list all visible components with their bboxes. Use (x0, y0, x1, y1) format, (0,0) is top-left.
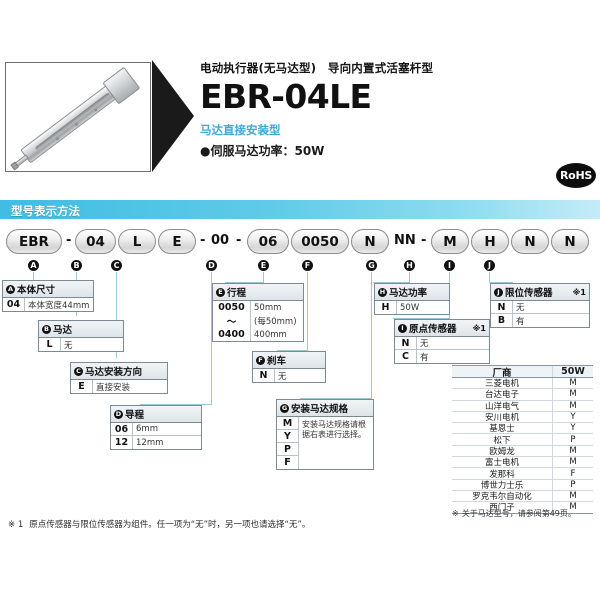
marker-j: J (484, 260, 495, 271)
table-f-title: 刹车 (267, 353, 286, 367)
cell-code: N (253, 369, 275, 382)
cell-code: F (277, 456, 298, 469)
table-row: F (277, 456, 298, 469)
code-pill-0050[interactable]: 0050 (291, 229, 349, 254)
decorative-wedge (152, 60, 194, 172)
cell-desc: 本体宽度44mm (25, 298, 92, 311)
table-row: 欧姆龙M (452, 446, 593, 457)
actuator-illustration (20, 70, 136, 163)
cell-code: P (277, 443, 298, 455)
table-f-header: F 刹车 (253, 352, 325, 369)
cell-desc: 6mm (133, 423, 161, 435)
table-b-motor: B 马达 L 无 (38, 320, 124, 352)
cell-code: C (395, 350, 417, 363)
table-i-title: 原点传感器 (409, 321, 457, 335)
table-row: N 无 (395, 337, 489, 350)
table-row: M (277, 417, 298, 430)
cell-desc: 有 (513, 314, 528, 327)
cell-code: N (395, 337, 417, 349)
table-h-motor-power: H 马达功率 H 50W (374, 283, 450, 315)
table-row: N 无 (491, 301, 589, 314)
page-title: EBR-04LE (200, 79, 540, 115)
cell-code: E (71, 380, 93, 393)
table-i-header: I 原点传感器 ※1 (395, 320, 489, 337)
cell-code: M (553, 446, 593, 456)
marker-i: I (444, 260, 455, 271)
manufacturer-table-header: 厂商 50W (452, 365, 593, 378)
table-d-lead: D 导程 06 6mm 12 12mm (110, 405, 202, 450)
cell-code: 12 (111, 436, 133, 449)
table-row: 山洋电气M (452, 401, 593, 412)
footnote-1: ※ 1原点传感器与限位传感器为组件。任一项为“无”时，另一项也请选择“无”。 (8, 518, 310, 530)
connector-e (263, 272, 264, 282)
table-row: 三菱电机M (452, 378, 593, 389)
manufacturer-table: 厂商 50W 三菱电机M 台达电子M 山洋电气M 安川电机Y 基恩士Y 松下P … (452, 365, 593, 514)
code-text-nn: NN (394, 233, 416, 248)
table-a-body-size: A 本体尺寸 04 本体宽度44mm (2, 280, 94, 312)
table-a-title: 本体尺寸 (17, 282, 55, 296)
cell-code: M (553, 457, 593, 467)
code-pill-n3[interactable]: N (551, 229, 589, 254)
model-code-row: EBR - 04 L E - 00 - 06 0050 N NN - M H N… (0, 229, 600, 255)
table-h-title: 马达功率 (389, 285, 427, 299)
table-c-title: 马达安装方向 (85, 364, 142, 378)
code-text-00: 00 (211, 233, 229, 248)
table-row: 04 本体宽度44mm (3, 298, 93, 311)
table-row: 安川电机Y (452, 412, 593, 423)
servo-power-label: ●伺服马达功率：50W (200, 142, 540, 159)
table-i-origin-sensor: I 原点传感器 ※1 N 无 C 有 (394, 319, 490, 364)
footnote-1-mark: ※ 1 (8, 520, 23, 530)
table-row: 0050 50mm (213, 301, 303, 314)
table-row: N 无 (253, 369, 325, 382)
table-i-note: ※1 (473, 324, 486, 333)
cell-manufacturer: 博世力士乐 (452, 480, 553, 490)
cell-desc: 无 (275, 369, 290, 382)
marker-icon-a: A (6, 285, 15, 294)
product-photo (5, 62, 151, 172)
table-row: E 直接安装 (71, 380, 167, 393)
section-header-bar: 型号表示方法 (0, 200, 600, 219)
table-h-header: H 马达功率 (375, 284, 449, 301)
table-row: Y (277, 430, 298, 443)
table-g-title: 安装马达规格 (291, 401, 348, 415)
table-row: 台达电子M (452, 389, 593, 400)
cell-code: M (553, 378, 593, 388)
table-row: 罗克韦尔自动化M (452, 491, 593, 502)
marker-f: F (302, 260, 313, 271)
connector-h (409, 272, 410, 282)
note-mark: ※ (452, 509, 459, 518)
code-pill-n1[interactable]: N (351, 229, 389, 254)
cell-code: Y (553, 412, 593, 422)
marker-h: H (404, 260, 415, 271)
table-row: 0400 400mm (213, 328, 303, 341)
actuator-motor-head (102, 67, 140, 105)
cell-desc: 12mm (133, 436, 166, 449)
table-e-stroke: E 行程 0050 50mm 〜 (每50mm) 0400 400mm (212, 283, 304, 342)
marker-icon-d: D (114, 410, 123, 419)
cell-desc: 无 (513, 301, 528, 313)
table-a-header: A 本体尺寸 (3, 281, 93, 298)
connector-f (307, 272, 308, 350)
column-header-manufacturer: 厂商 (452, 366, 553, 377)
table-row: B 有 (491, 314, 589, 327)
table-row: 12 12mm (111, 436, 201, 449)
table-row: 松下P (452, 434, 593, 445)
table-c-motor-direction: C 马达安装方向 E 直接安装 (70, 362, 168, 394)
table-j-note: ※1 (573, 288, 586, 297)
table-b-title: 马达 (53, 322, 72, 336)
cell-manufacturer: 欧姆龙 (452, 446, 553, 456)
code-pill-m[interactable]: M (431, 229, 469, 254)
actuator-slot (35, 92, 111, 151)
cell-code: 0400 (213, 328, 251, 341)
actuator-dot (55, 137, 59, 141)
code-dash: - (66, 233, 71, 248)
code-pill-n2[interactable]: N (511, 229, 549, 254)
code-pill-ebr[interactable]: EBR (6, 229, 62, 254)
rohs-badge: RoHS (556, 163, 596, 188)
cell-code: F (553, 468, 593, 478)
footnote-1-text: 原点传感器与限位传感器为组件。任一项为“无”时，另一项也请选择“无”。 (29, 520, 310, 530)
table-row: H 50W (375, 301, 449, 314)
code-dash: - (236, 233, 241, 248)
cell-desc: 50W (397, 301, 422, 314)
cell-code: P (553, 480, 593, 490)
note-text: 关于马达型号，请参阅第49页。 (462, 509, 576, 518)
marker-c: C (111, 260, 122, 271)
connector-j (489, 272, 490, 282)
table-j-title: 限位传感器 (505, 285, 553, 299)
cell-manufacturer: 基恩士 (452, 423, 553, 433)
cell-desc: 无 (417, 337, 432, 349)
marker-d: D (206, 260, 217, 271)
cell-code: N (491, 301, 513, 313)
title-block: 电动执行器(无马达型) 导向内置式活塞杆型 EBR-04LE 马达直接安装型 ●… (200, 60, 540, 159)
cell-manufacturer: 山洋电气 (452, 401, 553, 411)
manufacturer-table-note: ※关于马达型号，请参阅第49页。 (452, 508, 576, 519)
cell-manufacturer: 发那科 (452, 468, 553, 478)
cell-desc: 400mm (251, 328, 290, 341)
table-b-header: B 马达 (39, 321, 123, 338)
marker-icon-j: J (494, 288, 503, 297)
cell-manufacturer: 松下 (452, 434, 553, 444)
marker-e: E (258, 260, 269, 271)
cell-code: Y (553, 423, 593, 433)
cell-desc: 无 (61, 338, 76, 351)
cell-manufacturer: 台达电子 (452, 389, 553, 399)
code-pill-l[interactable]: L (118, 229, 156, 254)
table-row: 富士电机M (452, 457, 593, 468)
table-j-limit-sensor: J 限位传感器 ※1 N 无 B 有 (490, 283, 590, 328)
table-row: 06 6mm (111, 423, 201, 436)
actuator-dot (75, 122, 79, 126)
cell-code: Y (277, 430, 298, 442)
cell-manufacturer: 富士电机 (452, 457, 553, 467)
cell-code: P (553, 434, 593, 444)
cell-code: 04 (3, 298, 25, 311)
table-e-title: 行程 (227, 285, 246, 299)
cell-code: M (277, 417, 298, 429)
table-d-title: 导程 (125, 407, 144, 421)
marker-b: B (71, 260, 82, 271)
cell-code: M (553, 389, 593, 399)
cell-manufacturer: 罗克韦尔自动化 (452, 491, 553, 501)
code-pill-06[interactable]: 06 (247, 229, 289, 254)
code-dash: - (421, 233, 426, 248)
table-d-header: D 导程 (111, 406, 201, 423)
cell-code: B (491, 314, 513, 327)
marker-icon-f: F (256, 356, 265, 365)
marker-icon-b: B (42, 325, 51, 334)
table-g-description: 安装马达规格请根据右表进行选择。 (299, 417, 373, 469)
marker-a: A (28, 260, 39, 271)
cell-code: H (375, 301, 397, 314)
connector-a (33, 272, 34, 280)
product-category: 电动执行器(无马达型) 导向内置式活塞杆型 (200, 60, 540, 76)
cell-desc: 50mm (251, 301, 284, 314)
marker-icon-c: C (74, 367, 83, 376)
cell-desc: (每50mm) (251, 314, 300, 328)
marker-icon-h: H (378, 288, 387, 297)
marker-g: G (366, 260, 377, 271)
mount-type-label: 马达直接安装型 (200, 122, 540, 138)
table-g-motor-spec: G 安装马达规格 M Y P F 安装马达规格请根据右表进行选择。 (276, 399, 374, 470)
marker-icon-e: E (216, 288, 225, 297)
marker-icon-g: G (280, 404, 289, 413)
connector-g (371, 272, 372, 398)
table-row: P (277, 443, 298, 456)
cell-code: 0050 (213, 301, 251, 314)
cell-code: 06 (111, 423, 133, 435)
table-g-body: M Y P F 安装马达规格请根据右表进行选择。 (277, 417, 373, 469)
section-title: 型号表示方法 (11, 203, 80, 219)
cell-desc: 有 (417, 350, 432, 363)
column-header-50w: 50W (553, 366, 593, 377)
cell-desc: 直接安装 (93, 380, 133, 393)
table-e-header: E 行程 (213, 284, 303, 301)
marker-icon-i: I (398, 324, 407, 333)
table-row: C 有 (395, 350, 489, 363)
table-j-header: J 限位传感器 ※1 (491, 284, 589, 301)
cell-code: 〜 (213, 314, 251, 328)
table-row: 基恩士Y (452, 423, 593, 434)
code-pill-04[interactable]: 04 (75, 229, 116, 254)
cell-manufacturer: 三菱电机 (452, 378, 553, 388)
table-c-header: C 马达安装方向 (71, 363, 167, 380)
table-g-header: G 安装马达规格 (277, 400, 373, 417)
code-pill-h[interactable]: H (471, 229, 509, 254)
cell-code: L (39, 338, 61, 351)
table-f-brake: F 刹车 N 无 (252, 351, 326, 383)
code-pill-e[interactable]: E (158, 229, 196, 254)
table-row: 〜 (每50mm) (213, 314, 303, 328)
table-g-codes: M Y P F (277, 417, 299, 469)
code-dash: - (200, 233, 205, 248)
actuator-dot (94, 108, 98, 112)
cell-manufacturer: 安川电机 (452, 412, 553, 422)
cell-code: M (553, 491, 593, 501)
table-row: L 无 (39, 338, 123, 351)
cell-code: M (553, 401, 593, 411)
